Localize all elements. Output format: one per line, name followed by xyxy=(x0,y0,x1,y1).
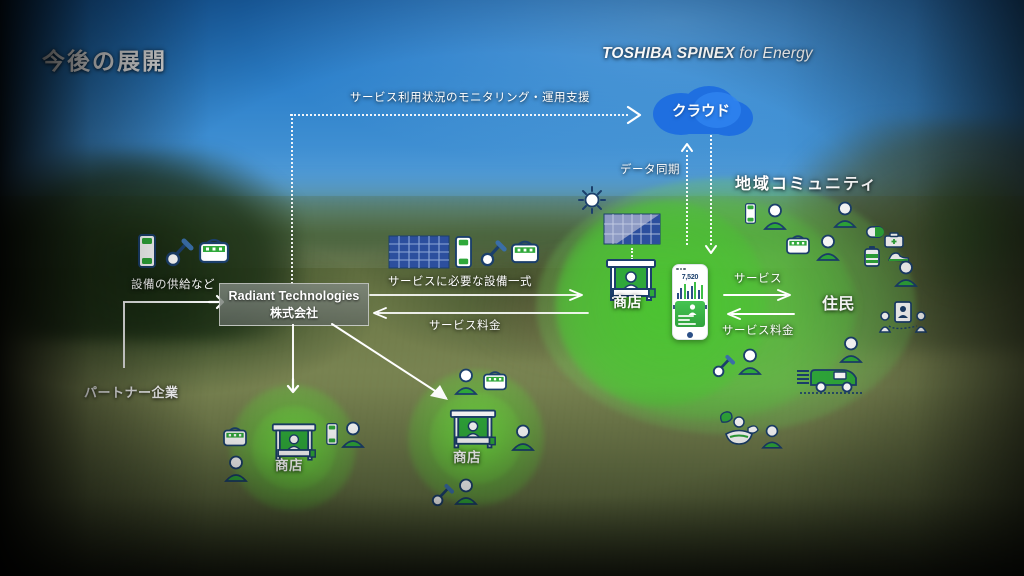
shop-label-main: 商店 xyxy=(613,292,642,312)
water-bottle-icon xyxy=(862,245,882,267)
ev-charger-icon xyxy=(713,353,737,377)
data-sync-up-line xyxy=(686,150,688,245)
power-station-icon xyxy=(482,369,508,391)
phone-home-button[interactable] xyxy=(673,332,707,338)
company-to-shop2-arrow-icon xyxy=(285,378,301,394)
service-arrow-left-icon xyxy=(722,307,794,321)
monitoring-label: サービス利用状況のモニタリング・運用支援 xyxy=(350,89,590,105)
charging-bars-icon xyxy=(797,370,809,386)
phone-card-person-icon xyxy=(688,304,697,315)
equipment-arrow-right-icon xyxy=(370,288,588,302)
power-station-icon xyxy=(222,425,248,447)
data-sync-down-arrow-icon xyxy=(703,243,719,257)
first-aid-kit-icon xyxy=(884,232,904,248)
battery-icon xyxy=(326,423,338,445)
company-to-shop3-arrow-icon xyxy=(330,322,460,412)
community-label: 地域コミュニティ xyxy=(735,170,878,194)
shop-icon xyxy=(449,408,497,450)
person-icon xyxy=(455,368,477,394)
person-icon xyxy=(512,424,534,450)
person-icon xyxy=(840,336,862,362)
ev-van-icon xyxy=(808,365,860,395)
equipment-label: サービスに必要な設備一式 xyxy=(388,273,532,289)
person-icon xyxy=(817,234,839,260)
person-icon xyxy=(764,203,786,229)
ev-charger-icon xyxy=(481,238,509,266)
company-name-en: Radiant Technologies xyxy=(229,289,360,303)
sun-icon xyxy=(578,186,606,214)
palm-tree xyxy=(930,160,1024,300)
monitoring-dotted-line xyxy=(290,114,628,116)
partner-horizontal-line xyxy=(123,301,213,303)
brand-logo: TOSHIBA SPINEX for Energy xyxy=(602,45,813,63)
power-station-icon xyxy=(785,233,811,255)
partner-vertical-line xyxy=(123,302,125,368)
power-station-icon xyxy=(510,238,540,264)
company-to-shop2-line xyxy=(292,324,294,381)
telemedicine-icon xyxy=(880,302,926,336)
service-arrow-right-icon xyxy=(724,288,796,302)
power-station-icon xyxy=(198,236,230,264)
company-to-cloud-dotted-line xyxy=(291,114,293,284)
residents-label: 住民 xyxy=(822,290,855,314)
brand-suffix: for Energy xyxy=(735,45,813,62)
partner-label: パートナー企業 xyxy=(84,382,179,401)
smartphone-icon[interactable]: 7,520 xyxy=(672,264,708,340)
person-icon xyxy=(455,478,477,504)
cloud-label: クラウド xyxy=(645,100,757,121)
person-icon xyxy=(762,424,782,448)
person-icon xyxy=(225,455,247,481)
phone-status-dot xyxy=(680,268,683,271)
phone-statusbar xyxy=(673,265,707,273)
battery-icon xyxy=(745,203,756,224)
ev-charger-icon xyxy=(166,236,196,266)
data-sync-up-arrow-icon xyxy=(679,140,695,154)
shop-label-three: 商店 xyxy=(453,446,481,466)
company-name-jp: 株式会社 xyxy=(270,304,318,321)
phone-bar-chart xyxy=(673,282,707,299)
supply-label: 設備の供給など xyxy=(131,276,215,292)
solar-panel-icon xyxy=(389,236,449,268)
service-fee-label-right: サービス料金 xyxy=(722,322,794,338)
data-sync-down-line xyxy=(710,135,712,245)
phone-service-card xyxy=(675,301,705,327)
pill-icon xyxy=(866,226,884,238)
phone-status-dot xyxy=(683,268,686,271)
battery-icon xyxy=(138,234,156,268)
brand-main: TOSHIBA SPINEX xyxy=(602,45,735,62)
slide-canvas: 今後の展開 TOSHIBA SPINEX for Energy サービス利用状況… xyxy=(0,0,1024,576)
service-label: サービス xyxy=(734,270,782,286)
ev-charger-icon xyxy=(432,482,456,506)
charging-dotted-line xyxy=(800,392,862,394)
person-icon xyxy=(834,201,856,227)
phone-value: 7,520 xyxy=(673,274,707,281)
phone-status-dot xyxy=(676,268,679,271)
person-icon xyxy=(342,421,364,447)
person-icon xyxy=(739,348,761,374)
person-icon xyxy=(895,260,917,286)
cloud-icon: クラウド xyxy=(645,84,757,140)
page-title: 今後の展開 xyxy=(42,42,167,76)
company-box[interactable]: Radiant Technologies 株式会社 xyxy=(219,283,369,326)
shop-label-two: 商店 xyxy=(275,454,303,474)
data-sync-label: データ同期 xyxy=(620,161,680,177)
service-fee-label-left: サービス料金 xyxy=(429,317,501,333)
farm-produce-icon xyxy=(716,410,762,446)
battery-icon xyxy=(455,236,472,268)
solar-panel-icon xyxy=(604,214,660,244)
